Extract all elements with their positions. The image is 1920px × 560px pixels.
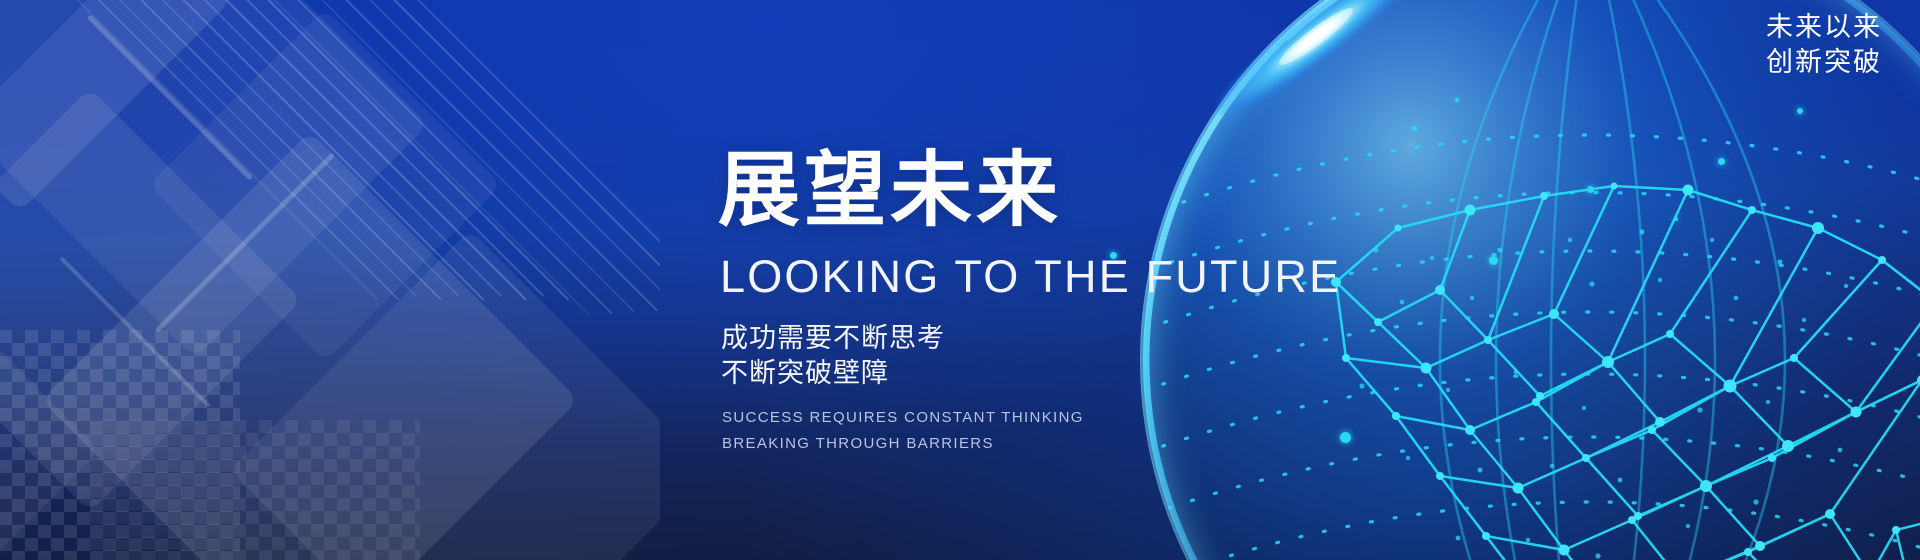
chevron-outline (59, 256, 210, 407)
banner-root: 未来以来 创新突破 展望未来 LOOKING TO THE FUTURE 成功需… (0, 0, 1920, 560)
chevron-block (41, 131, 578, 560)
particle-dot (1455, 98, 1459, 102)
left-geometric-artwork (0, 0, 660, 560)
chevron-block (148, 8, 502, 362)
chevron-block (0, 88, 302, 512)
page-title-cn: 展望未来 (718, 150, 1478, 232)
subheading-en: SUCCESS REQUIRES CONSTANT THINKING BREAK… (722, 405, 1478, 458)
main-copy-block: 展望未来 LOOKING TO THE FUTURE 成功需要不断思考 不断突破… (718, 150, 1478, 458)
particle-dot (1412, 126, 1417, 131)
chevron-outline (155, 152, 335, 332)
chevron-block (0, 0, 428, 358)
chevron-block (0, 0, 232, 212)
subheading-en-line2: BREAKING THROUGH BARRIERS (722, 431, 1478, 457)
chevron-outline (87, 14, 253, 180)
subheading-en-line1: SUCCESS REQUIRES CONSTANT THINKING (722, 405, 1478, 431)
diagonal-line-bundle (0, 0, 569, 405)
corner-tagline-line1: 未来以来 (1766, 10, 1882, 45)
particle-dot (1489, 256, 1498, 265)
corner-tagline-line2: 创新突破 (1766, 45, 1882, 80)
checker-dot-grid (90, 420, 420, 560)
particle-dot (1674, 217, 1678, 221)
particle-dot (1718, 158, 1725, 165)
diagonal-line-bundle (246, 0, 660, 390)
subheading-cn-line2: 不断突破壁障 (721, 356, 1478, 391)
chevron-block (0, 280, 100, 560)
chevron-block (230, 230, 660, 560)
checker-dot-grid (0, 330, 240, 560)
particle-dot (1587, 186, 1594, 193)
globe-limb-flare (1203, 0, 1430, 131)
particle-dot (1797, 108, 1803, 114)
page-title-en: LOOKING TO THE FUTURE (720, 254, 1478, 299)
corner-tagline: 未来以来 创新突破 (1766, 10, 1882, 80)
subheading-cn: 成功需要不断思考 不断突破壁障 (721, 321, 1478, 391)
subheading-cn-line1: 成功需要不断思考 (721, 321, 1478, 356)
globe-limb-flare-core (1274, 2, 1358, 71)
